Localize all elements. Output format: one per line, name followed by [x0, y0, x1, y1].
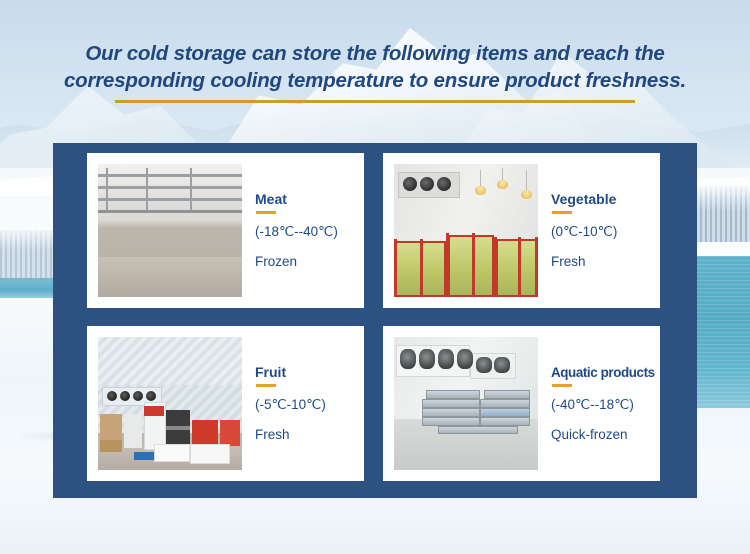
card-meat-temperature: (-18℃--40℃): [255, 223, 338, 241]
aquatic-products-cold-storage-photo: [394, 337, 538, 470]
card-meat-title-underline: [256, 211, 276, 214]
card-vegetable-title-underline: [552, 211, 572, 214]
card-meat-title: Meat: [255, 191, 338, 208]
card-vegetable-title: Vegetable: [551, 191, 617, 208]
heading-underline: [115, 100, 635, 103]
card-aquatic-products-title: Aquatic products: [551, 364, 655, 381]
vegetable-cold-storage-photo: [394, 164, 538, 297]
card-meat[interactable]: Meat (-18℃--40℃) Frozen: [87, 153, 364, 308]
card-aquatic-products-body: Aquatic products (-40℃--18℃) Quick-froze…: [538, 364, 655, 444]
cards-grid: Meat (-18℃--40℃) Frozen: [53, 143, 697, 498]
card-aquatic-products-state: Quick-frozen: [551, 426, 655, 444]
card-aquatic-products-title-underline: [552, 384, 572, 387]
card-vegetable[interactable]: Vegetable (0℃-10℃) Fresh: [383, 153, 660, 308]
card-aquatic-products[interactable]: Aquatic products (-40℃--18℃) Quick-froze…: [383, 326, 660, 481]
page-title: Our cold storage can store the following…: [55, 40, 695, 94]
page-title-line-2: corresponding cooling temperature to ens…: [55, 67, 695, 94]
card-fruit-temperature: (-5℃-10℃): [255, 396, 326, 414]
promo-banner: Our cold storage can store the following…: [0, 0, 750, 554]
card-fruit-body: Fruit (-5℃-10℃) Fresh: [242, 364, 326, 444]
fruit-cold-storage-photo: [98, 337, 242, 470]
card-meat-body: Meat (-18℃--40℃) Frozen: [242, 191, 338, 271]
card-aquatic-products-temperature: (-40℃--18℃): [551, 396, 655, 414]
card-meat-state: Frozen: [255, 253, 338, 271]
card-fruit-title-underline: [256, 384, 276, 387]
card-fruit-state: Fresh: [255, 426, 326, 444]
card-fruit[interactable]: Fruit (-5℃-10℃) Fresh: [87, 326, 364, 481]
card-vegetable-body: Vegetable (0℃-10℃) Fresh: [538, 191, 617, 271]
meat-cold-storage-photo: [98, 164, 242, 297]
card-fruit-title: Fruit: [255, 364, 326, 381]
heading-block: Our cold storage can store the following…: [0, 40, 750, 103]
page-title-line-1: Our cold storage can store the following…: [55, 40, 695, 67]
card-vegetable-state: Fresh: [551, 253, 617, 271]
card-vegetable-temperature: (0℃-10℃): [551, 223, 617, 241]
